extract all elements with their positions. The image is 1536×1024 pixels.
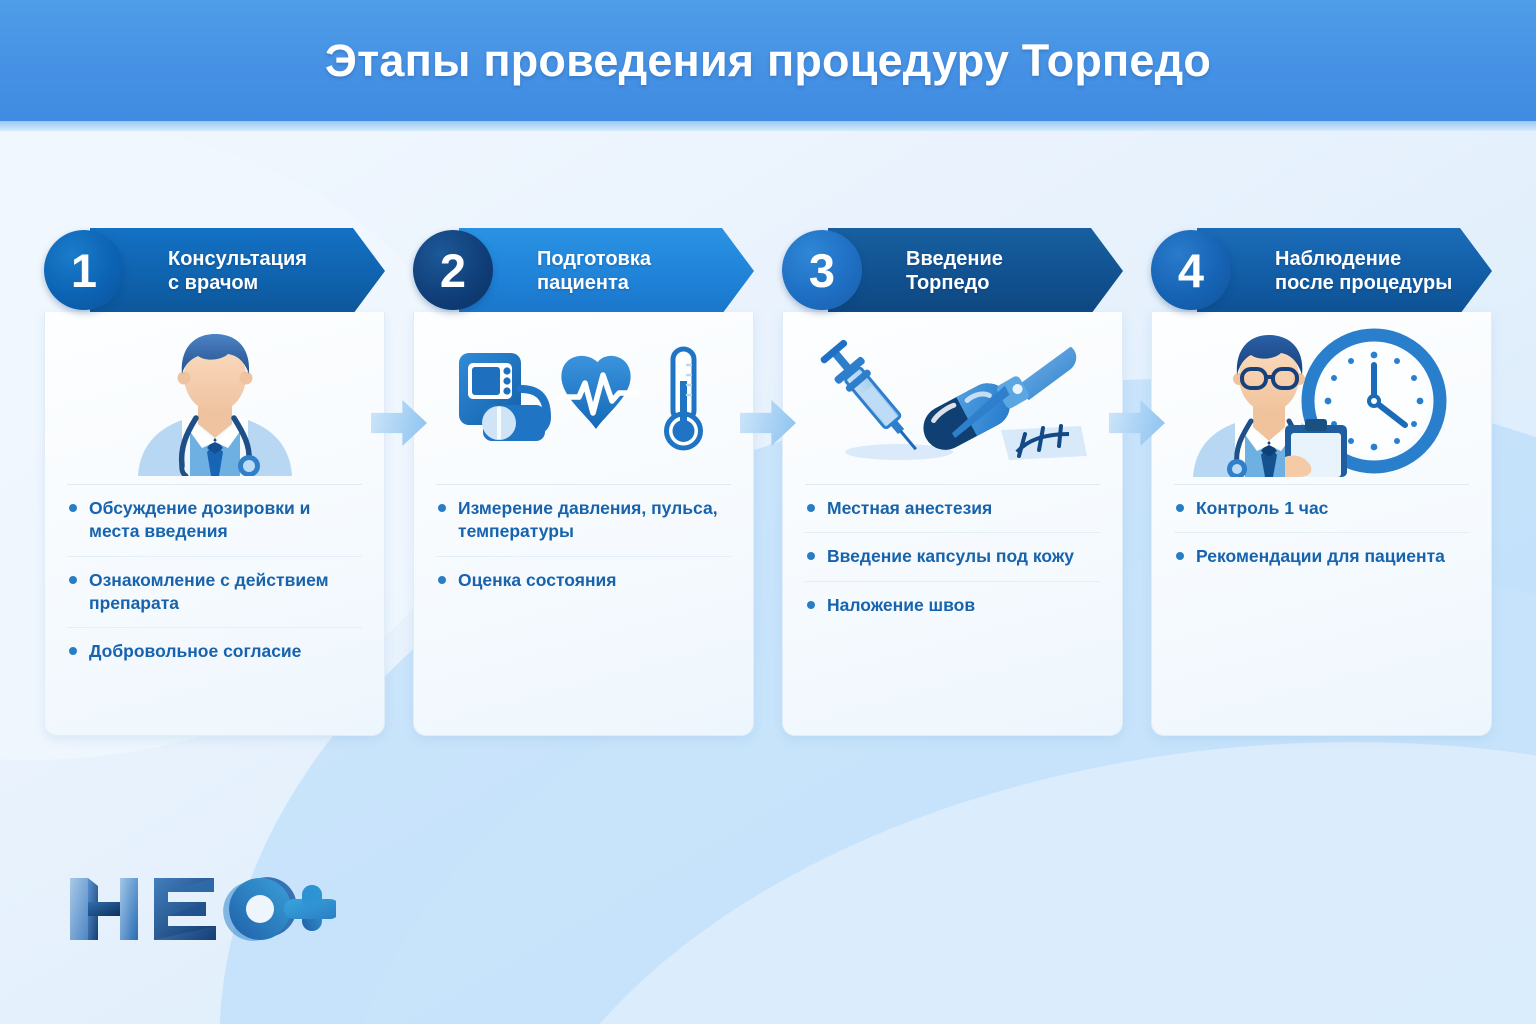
syringe-capsule-scalpel-icon — [783, 312, 1122, 484]
step-bullets-3: Местная анестезия Введение капсулы под к… — [805, 484, 1100, 629]
step-banner-1: Консультация с врачом — [90, 228, 385, 314]
vitals-monitor-heart-thermometer-icon — [414, 312, 753, 484]
bullet-dot-icon — [807, 601, 815, 609]
bullet-dot-icon — [69, 576, 77, 584]
step-body-3: Местная анестезия Введение капсулы под к… — [782, 312, 1123, 736]
step-banner-4: Наблюдение после процедуры — [1197, 228, 1492, 314]
bullet-text: Измерение давления, пульса, температуры — [458, 498, 718, 541]
bullet-text: Контроль 1 час — [1196, 498, 1328, 518]
infographic-stage: Этапы проведения процедуру Торпедо Консу… — [0, 0, 1536, 1024]
bullet-dot-icon — [438, 576, 446, 584]
bullet-text: Ознакомление с действием препарата — [89, 570, 329, 613]
bullet-text: Обсуждение дозировки и места введения — [89, 498, 310, 541]
step-banner-3: Введение Торпедо — [828, 228, 1123, 314]
list-item: Введение капсулы под кожу — [805, 533, 1100, 581]
bullet-text: Оценка состояния — [458, 570, 617, 590]
bullet-text: Добровольное согласие — [89, 641, 301, 661]
list-item: Местная анестезия — [805, 485, 1100, 533]
bullet-dot-icon — [438, 504, 446, 512]
step-banner-2: Подготовка пациента — [459, 228, 754, 314]
step-card-3[interactable]: Введение Торпедо 3 — [782, 228, 1123, 738]
steps-container: Консультация с врачом 1 — [44, 228, 1492, 738]
step-card-4[interactable]: Наблюдение после процедуры 4 — [1151, 228, 1492, 738]
step-bullets-4: Контроль 1 час Рекомендации для пациента — [1174, 484, 1469, 581]
list-item: Измерение давления, пульса, температуры — [436, 485, 731, 557]
doctor-stethoscope-icon — [45, 312, 384, 484]
step-number-4: 4 — [1151, 230, 1231, 310]
step-body-4: Контроль 1 час Рекомендации для пациента — [1151, 312, 1492, 736]
list-item: Оценка состояния — [436, 557, 731, 604]
bullet-dot-icon — [807, 552, 815, 560]
arrow-gap-3 — [1123, 228, 1151, 738]
arrow-gap-2 — [754, 228, 782, 738]
arrow-gap-1 — [385, 228, 413, 738]
step-card-1[interactable]: Консультация с врачом 1 — [44, 228, 385, 738]
header-bar: Этапы проведения процедуру Торпедо — [0, 0, 1536, 121]
step-title-4: Наблюдение после процедуры — [1275, 247, 1452, 296]
bullet-dot-icon — [807, 504, 815, 512]
bullet-dot-icon — [1176, 504, 1184, 512]
list-item: Рекомендации для пациента — [1174, 533, 1469, 580]
step-number-3: 3 — [782, 230, 862, 310]
step-title-1: Консультация с врачом — [168, 247, 307, 296]
step-title-2: Подготовка пациента — [537, 247, 651, 296]
bullet-text: Наложение швов — [827, 595, 975, 615]
bullet-dot-icon — [1176, 552, 1184, 560]
step-number-2: 2 — [413, 230, 493, 310]
step-card-2[interactable]: Подготовка пациента 2 — [413, 228, 754, 738]
step-title-3: Введение Торпедо — [906, 247, 1003, 296]
step-body-2: Измерение давления, пульса, температуры … — [413, 312, 754, 736]
list-item: Обсуждение дозировки и места введения — [67, 485, 362, 557]
step-bullets-2: Измерение давления, пульса, температуры … — [436, 484, 731, 604]
step-number-1: 1 — [44, 230, 124, 310]
bullet-text: Рекомендации для пациента — [1196, 546, 1445, 566]
doctor-clipboard-clock-icon — [1152, 312, 1491, 484]
bullet-text: Местная анестезия — [827, 498, 992, 518]
list-item: Контроль 1 час — [1174, 485, 1469, 533]
list-item: Добровольное согласие — [67, 628, 362, 675]
list-item: Ознакомление с действием препарата — [67, 557, 362, 629]
bullet-text: Введение капсулы под кожу — [827, 546, 1074, 566]
bullet-dot-icon — [69, 647, 77, 655]
step-body-1: Обсуждение дозировки и места введения Оз… — [44, 312, 385, 736]
header-underline — [0, 121, 1536, 131]
step-bullets-1: Обсуждение дозировки и места введения Оз… — [67, 484, 362, 675]
brand-logo[interactable]: НЕО+ — [64, 872, 336, 946]
list-item: Наложение швов — [805, 582, 1100, 629]
bullet-dot-icon — [69, 504, 77, 512]
page-title: Этапы проведения процедуру Торпедо — [325, 35, 1211, 87]
